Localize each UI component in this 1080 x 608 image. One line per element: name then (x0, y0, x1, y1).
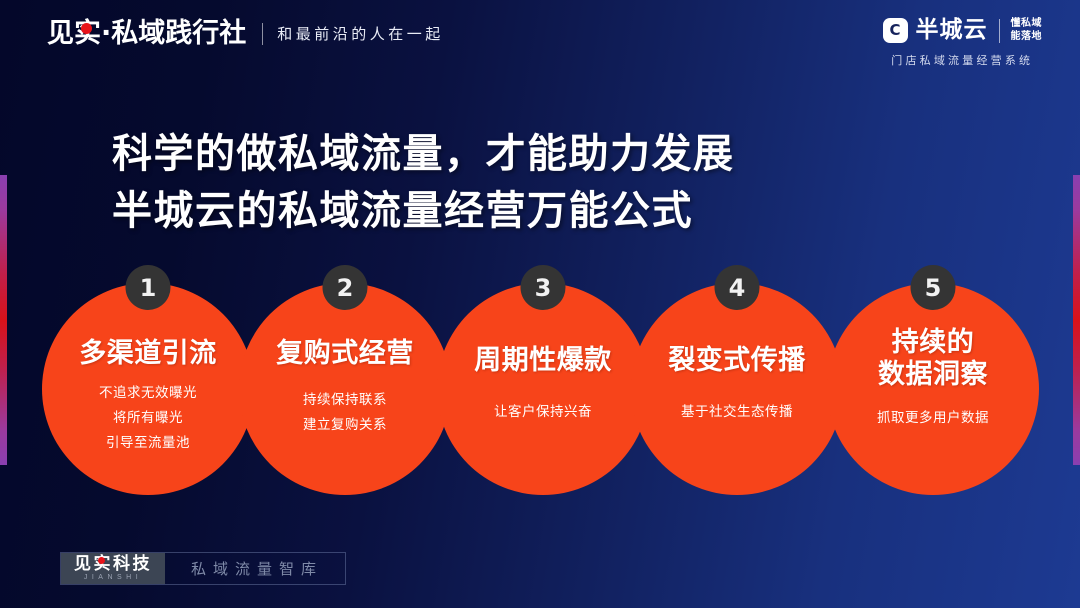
footer-brand-dot-char: 实 (94, 556, 114, 574)
footer-brand-post: 科技 (113, 554, 152, 574)
bubble-subs-2: 持续保持联系 建立复购关系 (239, 388, 451, 438)
bubble-headline-5-line-2: 数据洞察 (827, 359, 1039, 391)
formula-bubble-5[interactable]: 5 持续的 数据洞察 抓取更多用户数据 (827, 283, 1039, 495)
bubble-headline-3: 周期性爆款 (437, 345, 649, 377)
bubble-subs-1: 不追求无效曝光 将所有曝光 引导至流量池 (42, 381, 254, 456)
bubble-headline-4: 裂变式传播 (631, 345, 843, 377)
footer-brand-en: JIANSHI (84, 574, 142, 581)
formula-bubble-2[interactable]: 2 复购式经营 持续保持联系 建立复购关系 (239, 283, 451, 495)
footer-tagline: 私域流量智库 (165, 553, 345, 584)
bubble-badge-3: 3 (521, 265, 566, 310)
bubble-badge-1: 1 (126, 265, 171, 310)
formula-bubble-row: 1 多渠道引流 不追求无效曝光 将所有曝光 引导至流量池 2 复购式经营 持续保… (0, 0, 1080, 608)
bubble-sub-2-1: 持续保持联系 (239, 388, 451, 413)
formula-bubble-3[interactable]: 3 周期性爆款 让客户保持兴奋 (437, 283, 649, 495)
bubble-sub-1-1: 不追求无效曝光 (42, 381, 254, 406)
bubble-sub-1-3: 引导至流量池 (42, 431, 254, 456)
footer-logo-block: 见实科技 JIANSHI (61, 553, 165, 584)
bubble-sub-1-2: 将所有曝光 (42, 406, 254, 431)
bubble-headline-5: 持续的 数据洞察 (827, 327, 1039, 391)
slide-canvas: 见实·私域践行社 和最前沿的人在一起 C 半城云 懂私域 能落地 门店私域流量经… (0, 0, 1080, 608)
formula-bubble-1[interactable]: 1 多渠道引流 不追求无效曝光 将所有曝光 引导至流量池 (42, 283, 254, 495)
formula-bubble-4[interactable]: 4 裂变式传播 基于社交生态传播 (631, 283, 843, 495)
bubble-badge-5: 5 (911, 265, 956, 310)
bubble-subs-4: 基于社交生态传播 (631, 400, 843, 425)
bubble-sub-2-2: 建立复购关系 (239, 413, 451, 438)
bubble-headline-1: 多渠道引流 (42, 338, 254, 370)
footer-brand-cn: 见实科技 (74, 556, 152, 574)
bubble-sub-5-1: 抓取更多用户数据 (827, 406, 1039, 431)
bubble-badge-2: 2 (323, 265, 368, 310)
footer-brand-bar: 见实科技 JIANSHI 私域流量智库 (60, 552, 346, 585)
bubble-sub-4-1: 基于社交生态传播 (631, 400, 843, 425)
bubble-subs-5: 抓取更多用户数据 (827, 406, 1039, 431)
bubble-headline-2: 复购式经营 (239, 338, 451, 370)
footer-brand-pre: 见 (74, 554, 94, 574)
bubble-badge-4: 4 (715, 265, 760, 310)
bubble-headline-5-line-1: 持续的 (827, 327, 1039, 359)
bubble-sub-3-1: 让客户保持兴奋 (437, 400, 649, 425)
bubble-subs-3: 让客户保持兴奋 (437, 400, 649, 425)
